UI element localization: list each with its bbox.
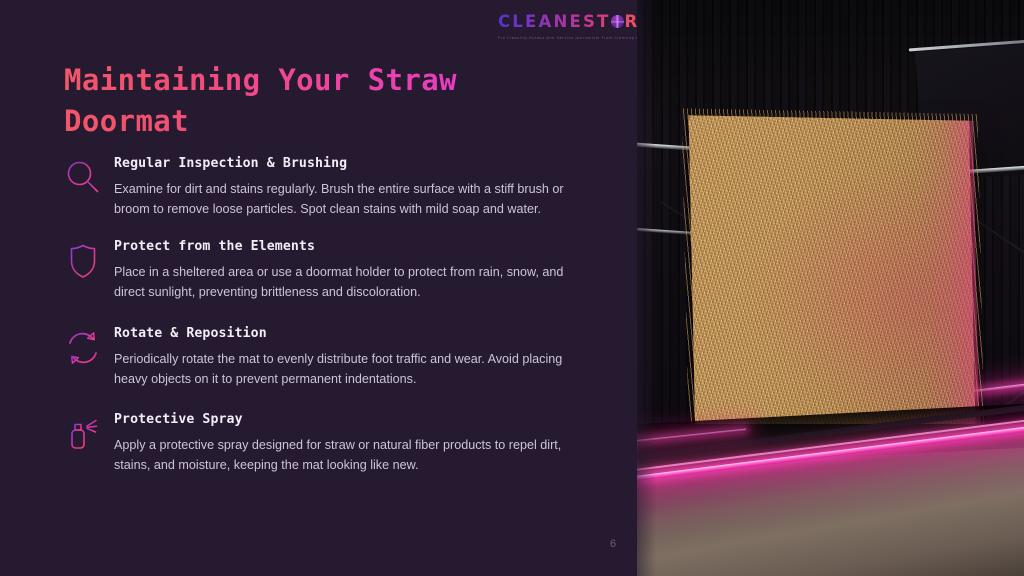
slide-root: CLEANESTR Pro Cleaning Guides And Servic… [0, 0, 1024, 576]
brand-tagline: Pro Cleaning Guides And Service Journali… [498, 35, 626, 41]
straw-doormat [689, 115, 976, 430]
shield-icon [62, 240, 104, 282]
magnifier-icon [62, 157, 104, 199]
list-item-body: Examine for dirt and stains regularly. B… [114, 179, 584, 219]
list-item-heading: Rotate & Reposition [114, 325, 584, 342]
globe-icon [611, 15, 624, 28]
list-item-body: Periodically rotate the mat to evenly di… [114, 349, 584, 389]
brand-logo[interactable]: CLEANESTR Pro Cleaning Guides And Servic… [498, 12, 626, 40]
maintenance-tips-list: Regular Inspection & Brushing Examine fo… [62, 155, 584, 475]
list-item: Protective Spray Apply a protective spra… [62, 411, 584, 475]
spray-bottle-icon [62, 413, 104, 455]
list-item-heading: Regular Inspection & Brushing [114, 155, 584, 172]
list-item-body: Apply a protective spray designed for st… [114, 435, 584, 475]
list-item-heading: Protect from the Elements [114, 238, 584, 255]
brand-wordmark: CLEANESTR [498, 12, 639, 32]
list-item: Rotate & Reposition Periodically rotate … [62, 325, 584, 389]
list-item: Regular Inspection & Brushing Examine fo… [62, 155, 584, 219]
page-number: 6 [598, 538, 628, 550]
list-item-body: Place in a sheltered area or use a doorm… [114, 262, 584, 302]
list-item-heading: Protective Spray [114, 411, 584, 428]
page-title: Maintaining Your Straw Doormat [64, 60, 534, 142]
brand-wordmark-part1: CLEANEST [498, 12, 610, 31]
rotate-icon [62, 327, 104, 369]
slide-photo [637, 0, 1024, 576]
list-item: Protect from the Elements Place in a she… [62, 238, 584, 302]
